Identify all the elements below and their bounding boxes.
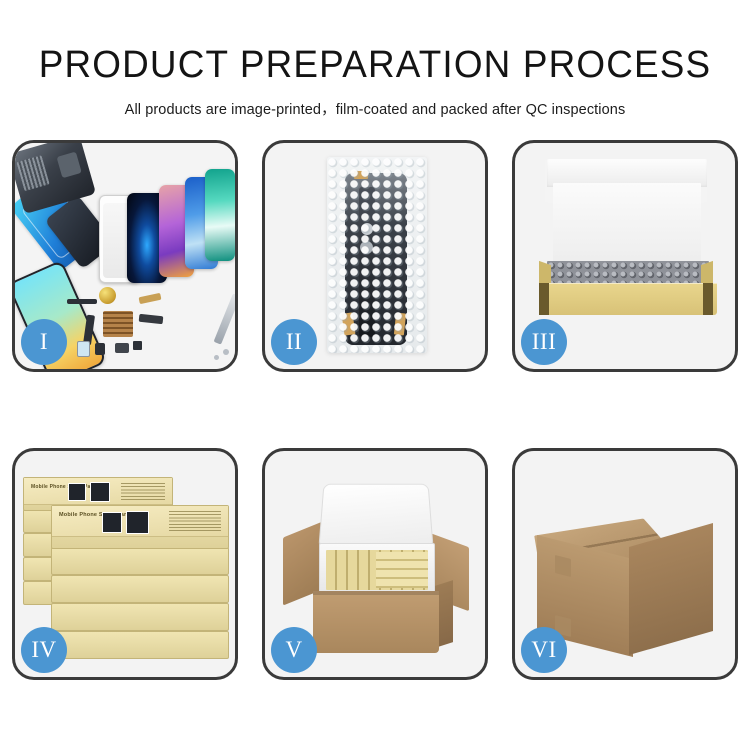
box-tab-shape — [703, 283, 713, 315]
step-badge-2: II — [271, 319, 317, 365]
header: PRODUCT PREPARATION PROCESS All products… — [0, 0, 750, 118]
small-part-shape — [95, 343, 105, 355]
bubble-bag-shape — [327, 157, 427, 353]
box-print-lines — [121, 483, 165, 501]
screw-shape — [223, 349, 229, 355]
step-panel-3: III — [512, 140, 738, 372]
page-subtitle: All products are image-printed，film-coat… — [0, 84, 750, 118]
retail-box-face: Mobile Phone Spare Parts — [24, 478, 172, 505]
retail-box — [51, 547, 229, 575]
step-panel-4: Mobile Phone Spare Parts M — [12, 448, 238, 680]
step-badge-4: IV — [21, 627, 67, 673]
step-panel-5: V — [262, 448, 488, 680]
step-panel-6: VI — [512, 448, 738, 680]
retail-box-label: Mobile Phone Spare Parts — [31, 484, 97, 490]
box-window-shape — [90, 482, 110, 502]
step-badge-5: V — [271, 627, 317, 673]
speaker-shape — [115, 343, 129, 353]
foam-sheet-shape — [553, 183, 701, 265]
box-front-shape — [539, 283, 717, 315]
carton-tab-shape — [555, 555, 571, 577]
screw-shape — [214, 355, 219, 360]
retail-box — [51, 603, 229, 631]
box-print-lines — [169, 511, 221, 533]
box-window-shape — [102, 512, 122, 533]
bubble-texture — [327, 157, 427, 353]
box-window-shape — [126, 511, 149, 534]
retail-box-face: Mobile Phone Spare Parts — [52, 506, 228, 537]
step-panel-1: I — [12, 140, 238, 372]
step-panel-2: II — [262, 140, 488, 372]
sim-tray-shape — [77, 341, 90, 357]
step-badge-1: I — [21, 319, 67, 365]
packed-yellow-boxes-shape — [376, 552, 428, 588]
product-preparation-infographic: PRODUCT PREPARATION PROCESS All products… — [0, 0, 750, 750]
retail-box — [51, 631, 229, 659]
foam-box-body-shape — [319, 543, 435, 597]
retail-box-top-right: Mobile Phone Spare Parts — [51, 505, 229, 549]
vibration-motor-shape — [99, 287, 116, 304]
carton-right-face-shape — [629, 523, 713, 655]
screw-grid-shape — [103, 311, 133, 337]
box-tab-shape — [539, 283, 549, 315]
teal-phone-shape — [205, 169, 235, 261]
page-title: PRODUCT PREPARATION PROCESS — [11, 0, 739, 84]
flex-cable-shape — [67, 299, 97, 304]
chip-shape — [133, 341, 142, 350]
retail-box — [51, 575, 229, 603]
carton-front-shape — [313, 591, 439, 653]
step-badge-3: III — [521, 319, 567, 365]
steps-grid: I II — [12, 140, 738, 680]
box-window-shape — [68, 483, 86, 501]
step-badge-6: VI — [521, 627, 567, 673]
foam-box-lid-shape — [318, 484, 433, 550]
